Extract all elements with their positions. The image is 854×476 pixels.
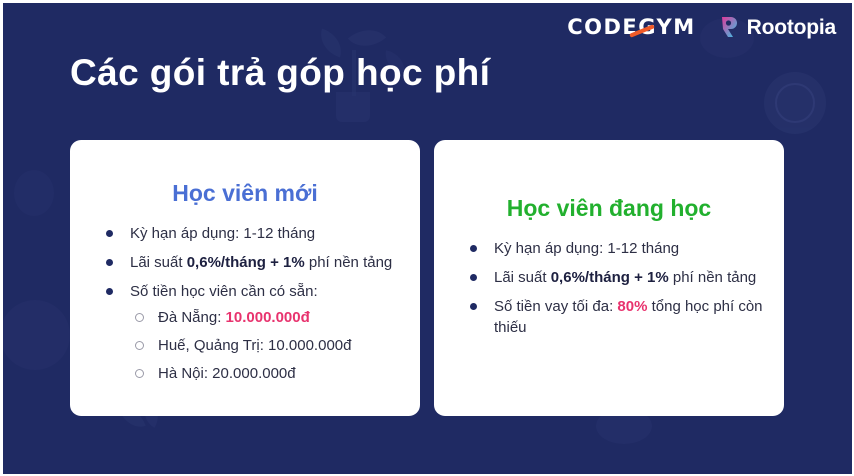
card-new-student: Học viên mới Kỳ hạn áp dụng: 1-12 thángL…	[70, 140, 420, 416]
codegym-logo: CODEGYM	[567, 17, 695, 38]
card-current-student-title: Học viên đang học	[450, 195, 768, 222]
rootopia-logo-text: Rootopia	[747, 17, 836, 38]
list-item: Kỳ hạn áp dụng: 1-12 tháng	[468, 238, 768, 260]
bullet-text: Huế, Quảng Trị: 10.000.000đ	[158, 337, 351, 354]
decor-blob-left-mid	[14, 170, 54, 216]
sub-list-item: Đà Nẵng: 10.000.000đ	[132, 307, 404, 329]
bullet-text: Kỳ hạn áp dụng: 1-12 tháng	[130, 225, 315, 242]
bullet-text: Số tiền vay tối đa:	[494, 298, 617, 315]
rootopia-logo: Rootopia	[718, 15, 836, 39]
sub-list-item: Hà Nội: 20.000.000đ	[132, 363, 404, 385]
decor-blob-bottom-left	[0, 300, 70, 370]
bullet-text: Hà Nội: 20.000.000đ	[158, 365, 296, 382]
slide-canvas: CODEGYM Rootopia Các gói trả gó	[0, 0, 854, 476]
list-item: Lãi suất 0,6%/tháng + 1% phí nền tảng	[104, 252, 404, 274]
rootopia-r-mark-icon	[718, 15, 742, 39]
list-item: Lãi suất 0,6%/tháng + 1% phí nền tảng	[468, 267, 768, 289]
list-item: Kỳ hạn áp dụng: 1-12 tháng	[104, 223, 404, 245]
bullet-text: Đà Nẵng:	[158, 309, 226, 326]
logo-bar: CODEGYM Rootopia	[567, 12, 836, 42]
bullet-text: Kỳ hạn áp dụng: 1-12 tháng	[494, 240, 679, 257]
card-new-student-title: Học viên mới	[86, 180, 404, 207]
emphasized-text: 0,6%/tháng + 1%	[551, 269, 669, 286]
decor-pot	[336, 92, 370, 122]
slide-frame-left	[0, 0, 3, 476]
cards-container: Học viên mới Kỳ hạn áp dụng: 1-12 thángL…	[70, 140, 784, 416]
card-current-student-bullet-list: Kỳ hạn áp dụng: 1-12 thángLãi suất 0,6%/…	[450, 238, 768, 346]
card-current-student: Học viên đang học Kỳ hạn áp dụng: 1-12 t…	[434, 140, 784, 416]
bullet-text: phí nền tảng	[305, 254, 393, 271]
bullet-text: Lãi suất	[494, 269, 551, 286]
bullet-text: Lãi suất	[130, 254, 187, 271]
bullet-text: Số tiền học viên cần có sẵn:	[130, 283, 318, 300]
slide-frame-top	[0, 0, 854, 3]
sub-bullet-list: Đà Nẵng: 10.000.000đHuế, Quảng Trị: 10.0…	[130, 307, 404, 384]
sub-list-item: Huế, Quảng Trị: 10.000.000đ	[132, 335, 404, 357]
highlighted-value: 10.000.000đ	[226, 309, 310, 326]
highlighted-value: 80%	[617, 298, 647, 315]
page-title: Các gói trả góp học phí	[70, 52, 490, 94]
emphasized-text: 0,6%/tháng + 1%	[187, 254, 305, 271]
list-item: Số tiền học viên cần có sẵn:Đà Nẵng: 10.…	[104, 281, 404, 385]
list-item: Số tiền vay tối đa: 80% tổng học phí còn…	[468, 296, 768, 340]
card-new-student-bullet-list: Kỳ hạn áp dụng: 1-12 thángLãi suất 0,6%/…	[86, 223, 404, 392]
decor-compass-icon	[764, 72, 826, 134]
bullet-text: phí nền tảng	[669, 269, 757, 286]
